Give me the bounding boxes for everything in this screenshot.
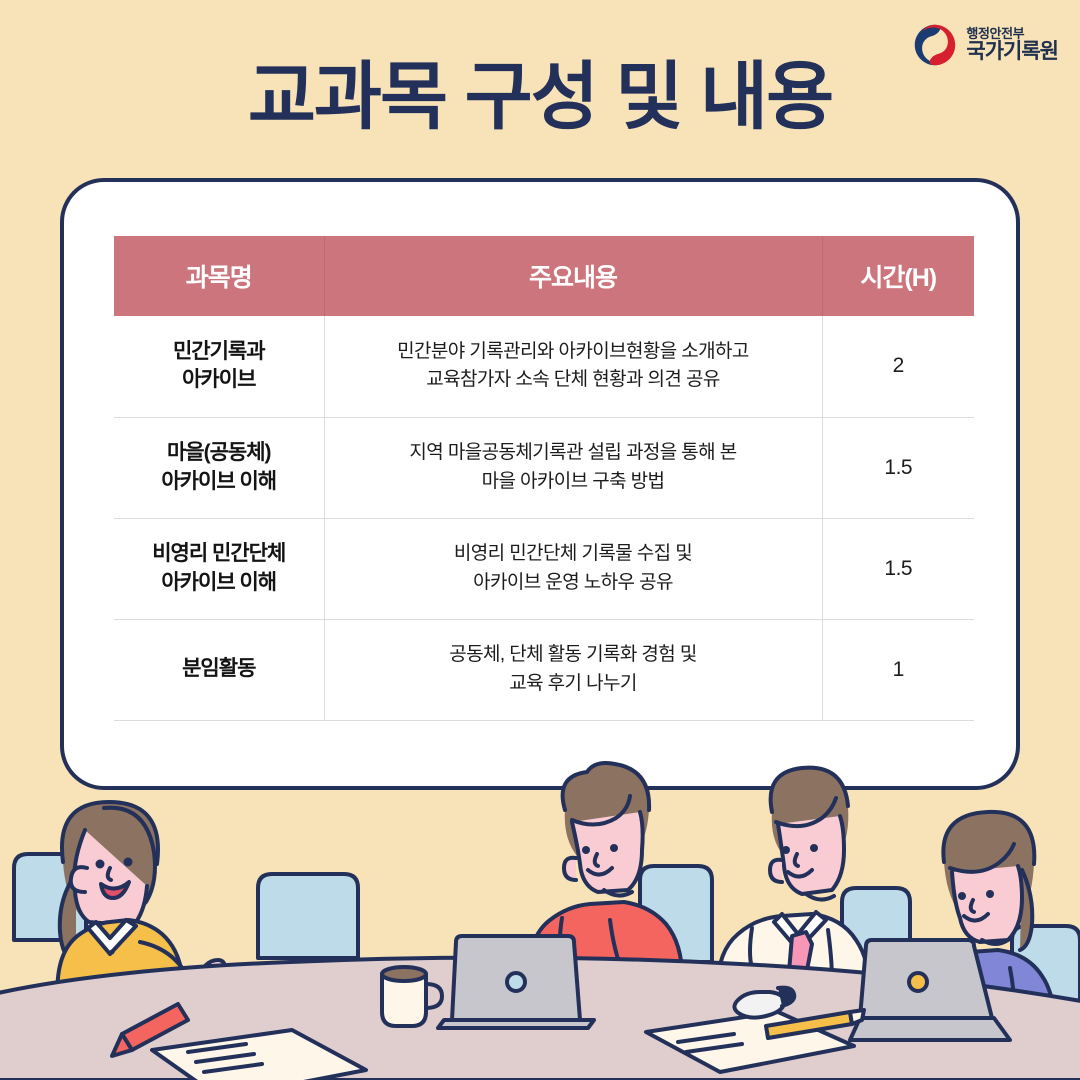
logo-ministry-name: 행정안전부 xyxy=(966,27,1058,41)
subject-line-2: 아카이브 xyxy=(122,366,316,394)
table-row: 비영리 민간단체 아카이브 이해 비영리 민간단체 기록물 수집 및 아카이브 … xyxy=(114,518,974,619)
content-line-2: 마을 아카이브 구축 방법 xyxy=(333,468,814,497)
subject-line-1: 비영리 민간단체 xyxy=(122,540,316,568)
subject-line-1: 마을(공동체) xyxy=(122,439,316,467)
column-header-content: 주요내용 xyxy=(324,236,822,316)
table-body: 민간기록과 아카이브 민간분야 기록관리와 아카이브현황을 소개하고 교육참가자… xyxy=(114,316,974,720)
cell-content: 지역 마을공동체기록관 설립 과정을 통해 본 마을 아카이브 구축 방법 xyxy=(324,417,822,518)
cell-hours: 1.5 xyxy=(822,417,974,518)
subject-line-1: 분임활동 xyxy=(122,655,316,683)
table-row: 마을(공동체) 아카이브 이해 지역 마을공동체기록관 설립 과정을 통해 본 … xyxy=(114,417,974,518)
table-row: 민간기록과 아카이브 민간분야 기록관리와 아카이브현황을 소개하고 교육참가자… xyxy=(114,316,974,417)
content-line-1: 지역 마을공동체기록관 설립 과정을 통해 본 xyxy=(333,439,814,468)
page-title: 교과목 구성 및 내용 xyxy=(0,56,1080,137)
table-header: 과목명 주요내용 시간(H) xyxy=(114,236,974,316)
content-line-2: 교육 후기 나누기 xyxy=(333,670,814,699)
cell-subject: 분임활동 xyxy=(114,619,324,720)
subject-line-1: 민간기록과 xyxy=(122,338,316,366)
chair-icon xyxy=(258,874,358,958)
cell-content: 공동체, 단체 활동 기록화 경험 및 교육 후기 나누기 xyxy=(324,619,822,720)
column-header-subject: 과목명 xyxy=(114,236,324,316)
cell-content: 비영리 민간단체 기록물 수집 및 아카이브 운영 노하우 공유 xyxy=(324,518,822,619)
cell-hours: 1.5 xyxy=(822,518,974,619)
cell-subject: 민간기록과 아카이브 xyxy=(114,316,324,417)
curriculum-table: 과목명 주요내용 시간(H) 민간기록과 아카이브 민간분야 기록관리와 아카이… xyxy=(114,236,974,721)
subject-line-2: 아카이브 이해 xyxy=(122,569,316,597)
content-line-1: 공동체, 단체 활동 기록화 경험 및 xyxy=(333,641,814,670)
cell-subject: 마을(공동체) 아카이브 이해 xyxy=(114,417,324,518)
cell-content: 민간분야 기록관리와 아카이브현황을 소개하고 교육참가자 소속 단체 현황과 … xyxy=(324,316,822,417)
laptop-icon xyxy=(438,936,594,1028)
meeting-illustration xyxy=(0,750,1080,1080)
column-header-hours: 시간(H) xyxy=(822,236,974,316)
content-card: 과목명 주요내용 시간(H) 민간기록과 아카이브 민간분야 기록관리와 아카이… xyxy=(60,178,1020,790)
table-header-row: 과목명 주요내용 시간(H) xyxy=(114,236,974,316)
content-line-1: 민간분야 기록관리와 아카이브현황을 소개하고 xyxy=(333,338,814,367)
cell-hours: 1 xyxy=(822,619,974,720)
content-line-1: 비영리 민간단체 기록물 수집 및 xyxy=(333,540,814,569)
content-line-2: 아카이브 운영 노하우 공유 xyxy=(333,569,814,598)
content-line-2: 교육참가자 소속 단체 현황과 의견 공유 xyxy=(333,366,814,395)
cell-hours: 2 xyxy=(822,316,974,417)
infographic-canvas: 행정안전부 국가기록원 교과목 구성 및 내용 과목명 주요내용 시간(H) 민… xyxy=(0,0,1080,1080)
cell-subject: 비영리 민간단체 아카이브 이해 xyxy=(114,518,324,619)
subject-line-2: 아카이브 이해 xyxy=(122,468,316,496)
table-row: 분임활동 공동체, 단체 활동 기록화 경험 및 교육 후기 나누기 1 xyxy=(114,619,974,720)
